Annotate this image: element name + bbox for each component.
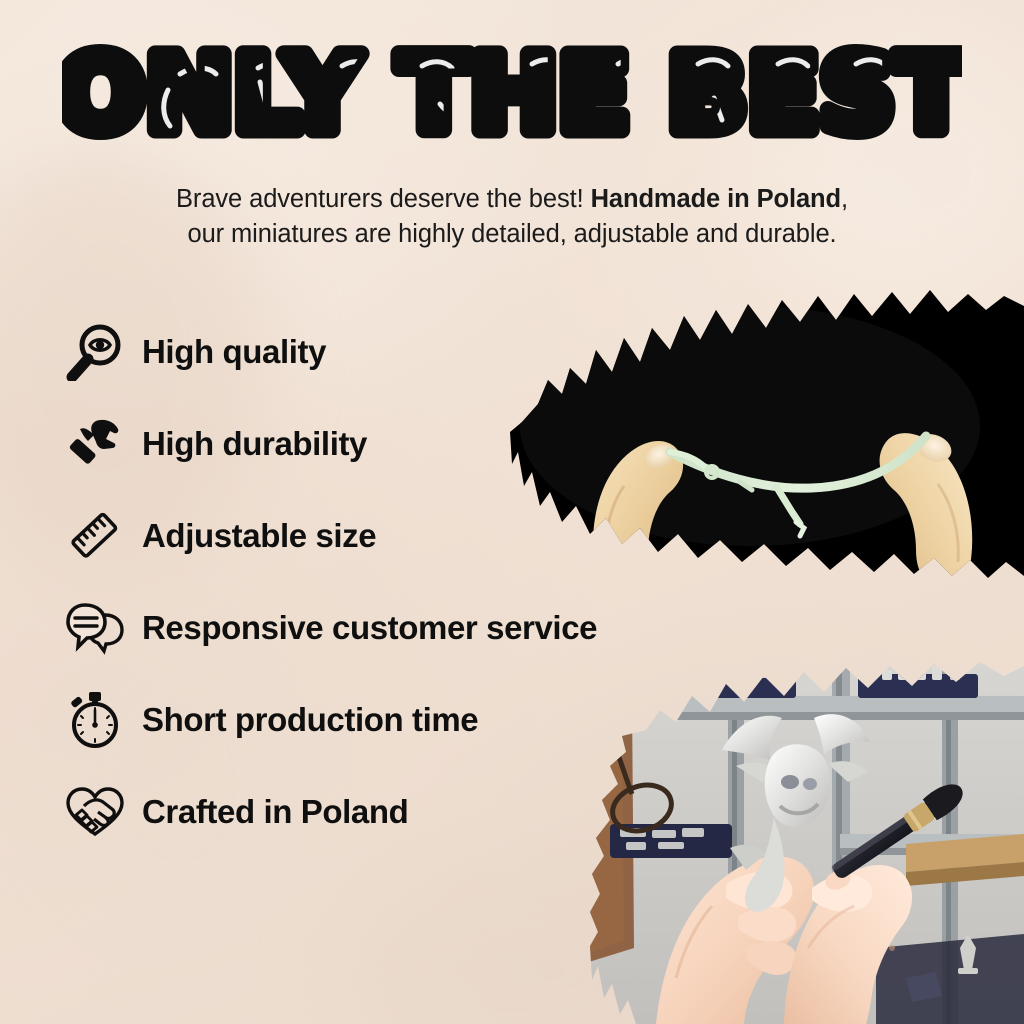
stopwatch-icon [58,685,132,755]
subtitle-line-2: our miniatures are highly detailed, adju… [187,220,836,248]
feature-item: Crafted in Poland [58,766,738,858]
handshake-heart-icon [58,777,132,847]
feature-list: High quality High durability [58,306,738,858]
feature-label: High quality [142,333,326,371]
feature-item: Adjustable size [58,490,738,582]
magnifier-eye-icon [58,317,132,387]
feature-item: Short production time [58,674,738,766]
feature-label: Crafted in Poland [142,793,408,831]
feature-item: Responsive customer service [58,582,738,674]
feature-label: High durability [142,425,367,463]
headline: ONLY THE BEST ONLY THE BEST [0,38,1024,156]
headline-text: ONLY THE BEST [62,38,962,155]
speech-bubbles-icon [58,593,132,663]
subtitle-line-1-pre: Brave adventurers deserve the best! [176,185,591,213]
ruler-icon [58,501,132,571]
hammer-icon [58,409,132,479]
feature-item: High quality [58,306,738,398]
subtitle-bold-phrase: Handmade in Poland [591,185,841,213]
subtitle-line-1-post: , [841,185,848,213]
promo-graphic: 2 [0,0,1024,1024]
feature-item: High durability [58,398,738,490]
subtitle: Brave adventurers deserve the best! Hand… [0,182,1024,252]
feature-label: Responsive customer service [142,609,597,647]
feature-label: Short production time [142,701,478,739]
feature-label: Adjustable size [142,517,376,555]
